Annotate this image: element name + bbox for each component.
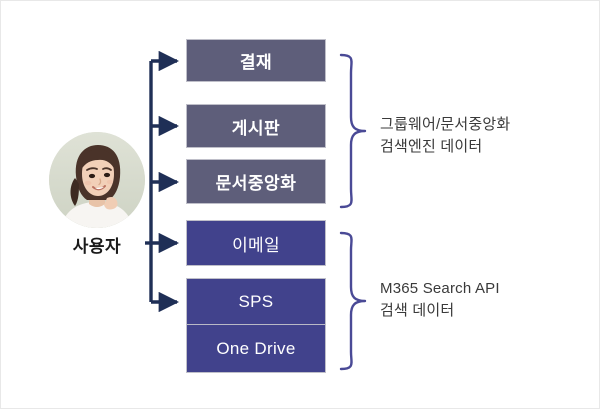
node-box-email[interactable]: 이메일	[186, 220, 326, 266]
user-photo-avatar-icon	[49, 132, 145, 228]
annotation-group-1: M365 Search API 검색 데이터	[380, 278, 500, 322]
user-label: 사용자	[39, 232, 155, 257]
node-box-board[interactable]: 게시판	[186, 104, 326, 148]
node-box-sps[interactable]: SPS	[186, 278, 326, 325]
diagram-canvas: 사용자 결재 게시판 문서중앙화 이메일 SPS One Drive	[0, 0, 600, 409]
curly-brace-right-icon-group-0	[335, 53, 379, 209]
node-box-approval[interactable]: 결재	[186, 39, 326, 82]
annotation-group-0: 그룹웨어/문서중앙화 검색엔진 데이터	[380, 114, 510, 158]
curly-brace-right-icon-group-1	[335, 231, 379, 371]
avatar	[49, 132, 145, 228]
node-box-one-drive[interactable]: One Drive	[186, 325, 326, 373]
node-box-document-hub[interactable]: 문서중앙화	[186, 159, 326, 204]
